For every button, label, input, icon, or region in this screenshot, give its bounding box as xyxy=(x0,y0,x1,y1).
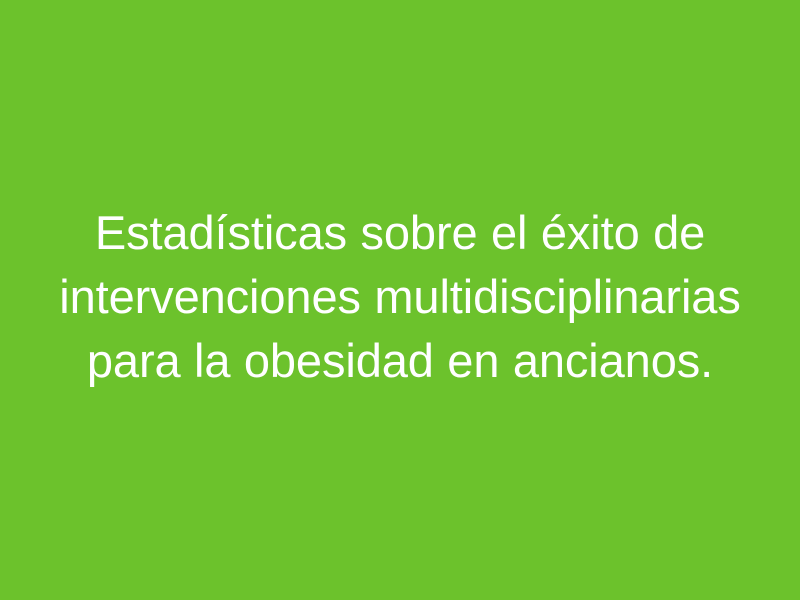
headline-line-2: intervenciones multidisciplinarias xyxy=(20,265,780,329)
headline-block: Estadísticas sobre el éxito de intervenc… xyxy=(20,201,780,399)
page-title: Estadísticas sobre el éxito de intervenc… xyxy=(20,201,780,393)
headline-line-1: Estadísticas sobre el éxito de xyxy=(20,201,780,265)
headline-line-3: para la obesidad en ancianos. xyxy=(20,329,780,393)
title-card: Estadísticas sobre el éxito de intervenc… xyxy=(0,0,800,600)
